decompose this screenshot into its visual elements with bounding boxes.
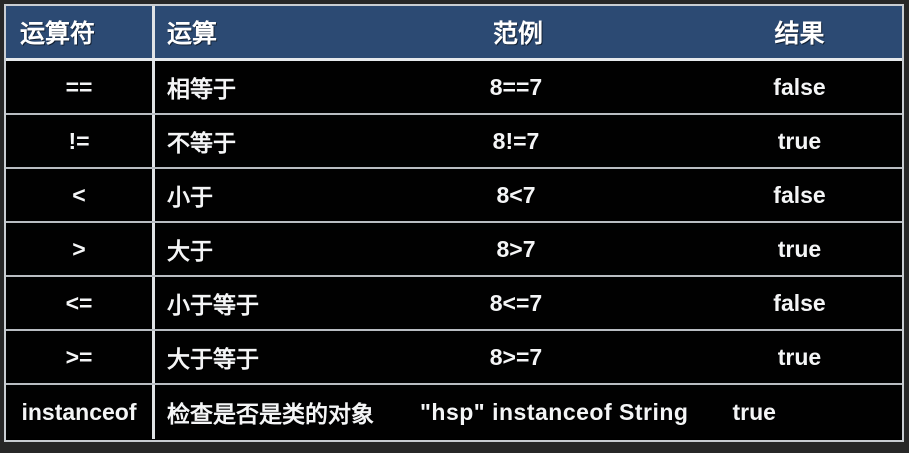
cell-example: 8!=7 [345,115,697,167]
cell-operator: == [6,61,155,113]
cell-instanceof-content: 检查是否是类的对象 "hsp" instanceof String true [155,385,902,439]
cell-operator: instanceof [6,385,155,439]
cell-operation: 检查是否是类的对象 [167,395,374,429]
cell-result: false [697,277,902,329]
table-row: < 小于 8<7 false [6,169,902,223]
cell-example: 8>7 [345,223,697,275]
cell-example: 8<7 [345,169,697,221]
cell-operation: 不等于 [155,115,345,167]
table-row: >= 大于等于 8>=7 true [6,331,902,385]
screenshot-root: 运算符 运算 范例 结果 == 相等于 8==7 false != 不等于 8!… [0,0,909,453]
cell-operation: 大于等于 [155,331,345,383]
header-cell-operation: 运算 [155,6,345,58]
header-cell-operator: 运算符 [6,6,155,58]
cell-operator: <= [6,277,155,329]
cell-result: true [732,399,775,426]
table-row: == 相等于 8==7 false [6,61,902,115]
cell-example: 8<=7 [345,277,697,329]
cell-operation: 相等于 [155,61,345,113]
cell-operator: > [6,223,155,275]
cell-operator: < [6,169,155,221]
cell-result: false [697,61,902,113]
cell-operator: >= [6,331,155,383]
cell-operation: 小于 [155,169,345,221]
cell-example: 8>=7 [345,331,697,383]
header-cell-result: 结果 [697,6,902,58]
operators-table: 运算符 运算 范例 结果 == 相等于 8==7 false != 不等于 8!… [4,4,904,442]
table-row: instanceof 检查是否是类的对象 "hsp" instanceof St… [6,385,902,439]
cell-operation: 大于 [155,223,345,275]
table-header-row: 运算符 运算 范例 结果 [6,6,902,61]
cell-result: true [697,223,902,275]
header-cell-example: 范例 [345,6,697,58]
table-row: <= 小于等于 8<=7 false [6,277,902,331]
cell-example: "hsp" instanceof String [420,399,688,426]
cell-operator: != [6,115,155,167]
cell-result: true [697,331,902,383]
cell-result: false [697,169,902,221]
table-row: > 大于 8>7 true [6,223,902,277]
table-row: != 不等于 8!=7 true [6,115,902,169]
cell-example: 8==7 [345,61,697,113]
cell-operation: 小于等于 [155,277,345,329]
cell-result: true [697,115,902,167]
